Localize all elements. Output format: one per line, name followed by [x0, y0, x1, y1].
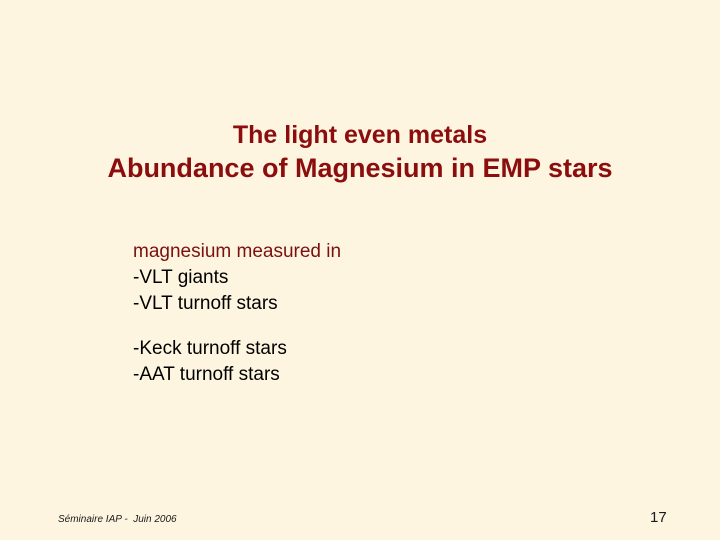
title-line-1: The light even metals	[0, 120, 720, 151]
slide: The light even metals Abundance of Magne…	[0, 0, 720, 540]
slide-body: magnesium measured in -VLT giants -VLT t…	[133, 239, 613, 388]
list-item: -VLT giants	[133, 265, 613, 291]
list-item: -VLT turnoff stars	[133, 291, 613, 317]
slide-footer: Séminaire IAP - Juin 2006 17	[0, 480, 720, 540]
list-item: -Keck turnoff stars	[133, 336, 613, 362]
list-item: -AAT turnoff stars	[133, 362, 613, 388]
body-heading-magnesium: magnesium measured in	[133, 239, 613, 265]
page-number: 17	[650, 509, 667, 526]
title-line-2: Abundance of Magnesium in EMP stars	[0, 151, 720, 185]
footer-seminar-label: Séminaire IAP - Juin 2006	[58, 514, 177, 525]
body-group-1: magnesium measured in -VLT giants -VLT t…	[133, 239, 613, 317]
slide-title: The light even metals Abundance of Magne…	[0, 120, 720, 185]
body-group-2: -Keck turnoff stars -AAT turnoff stars	[133, 336, 613, 388]
